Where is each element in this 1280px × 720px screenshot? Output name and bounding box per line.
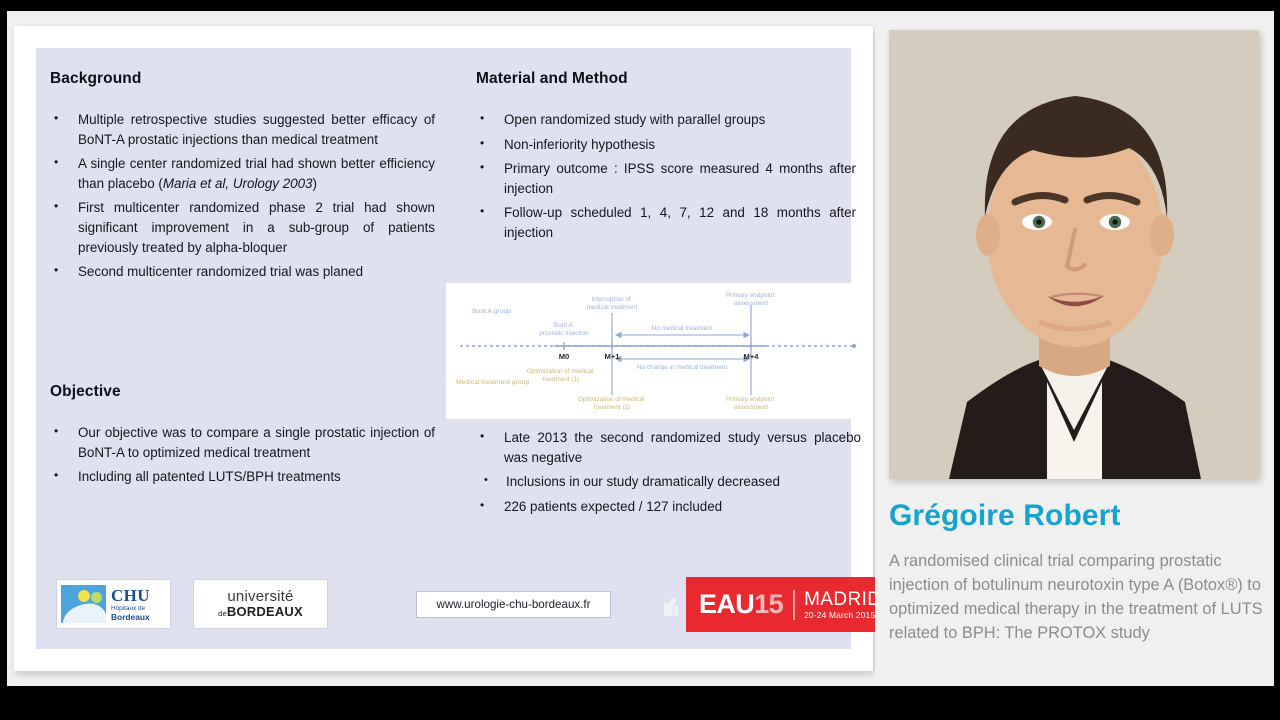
list-item: Multiple retrospective studies suggested… [50,110,435,149]
svg-text:Bont A group: Bont A group [472,308,511,315]
background-section-title: Background [50,70,435,88]
ub-logo-prefix: de [218,609,227,618]
ub-logo-city: BORDEAUX [227,604,303,619]
eau-logo-divider [793,590,795,620]
svg-text:Interruption of: Interruption of medical treatment [587,296,638,311]
chu-logo-name: CHU [111,587,150,604]
ub-logo-line1: université [227,589,293,605]
svg-text:Optimization of medical: Optimization of medical treatment (2) [578,396,646,411]
study-timeline-diagram: M0 M+1 M+4 Bont A group Medical treatmen… [446,283,869,419]
watermark-logo-icon [661,597,681,619]
list-item: Our objective was to compare a single pr… [50,423,435,462]
svg-text:Optimization of medical: Optimization of medical treatment (1) [527,368,595,383]
list-item: Second multicenter randomized trial was … [50,262,435,282]
eau-logo-dates: 20-24 March 2015 [804,611,881,620]
svg-text:Primary endpoint: Primary endpoint assessment [726,396,776,411]
results-bullet-list-2: 226 patients expected / 127 included [476,497,861,517]
speaker-photo [889,30,1259,479]
website-url-text: www.urologie-chu-bordeaux.fr [436,598,590,611]
universite-bordeaux-logo: université deBORDEAUX [193,579,328,629]
letterbox-left-bar [0,0,7,720]
presentation-viewer: Background Multiple retrospective studie… [0,0,1280,720]
slide-footer: CHU Hôpitaux de Bordeaux université deBO… [50,579,850,639]
background-bullet-list: Multiple retrospective studies suggested… [50,110,435,282]
chu-emblem-icon [61,585,106,623]
chu-bordeaux-logo: CHU Hôpitaux de Bordeaux [56,579,171,629]
results-sub-bullet-list: Inclusions in our study dramatically dec… [476,472,861,492]
svg-text:Medical treatment group: Medical treatment group [456,379,530,386]
eau-logo-city: MADRID [804,590,881,610]
list-item: Follow-up scheduled 1, 4, 7, 12 and 18 m… [476,203,856,242]
list-item: Non-inferiority hypothesis [476,135,856,155]
svg-text:M+1: M+1 [605,352,621,361]
objective-bullet-list: Our objective was to compare a single pr… [50,423,435,487]
viewer-stage: Background Multiple retrospective studie… [7,11,1274,686]
objective-section-title: Objective [50,383,435,401]
results-bullet-list: Late 2013 the second randomized study ve… [476,428,861,467]
chu-logo-line3: Bordeaux [111,613,150,621]
slide-content-panel: Background Multiple retrospective studie… [36,48,851,649]
list-item: Open randomized study with parallel grou… [476,110,856,130]
slide-column-right: Material and Method Open randomized stud… [476,70,856,248]
letterbox-bottom-bar [0,686,1280,720]
ub-logo-line2: deBORDEAUX [218,604,303,619]
eau-logo-text: EAU [699,589,754,619]
speaker-pane: Grégoire Robert A randomised clinical tr… [875,11,1274,686]
talk-title: A randomised clinical trial comparing pr… [889,549,1263,645]
website-url-box[interactable]: www.urologie-chu-bordeaux.fr [416,591,611,618]
list-item: A single center randomized trial had sho… [50,154,435,193]
sun-icon [78,590,90,602]
svg-text:M0: M0 [559,352,570,361]
slide-card[interactable]: Background Multiple retrospective studie… [14,26,873,671]
eau-logo-year: 15 [754,589,783,619]
letterbox-right-bar [1274,0,1280,720]
list-item: Late 2013 the second randomized study ve… [476,428,861,467]
slide-column-left: Background Multiple retrospective studie… [50,70,435,287]
svg-text:M+4: M+4 [744,352,760,361]
eau15-madrid-logo: EAU15 MADRID 20-24 March 2015 [686,577,887,632]
list-item: Including all patented LUTS/BPH treatmen… [50,467,435,487]
letterbox-top-bar [0,0,1280,11]
list-item: Inclusions in our study dramatically dec… [476,472,861,492]
list-item: 226 patients expected / 127 included [476,497,861,517]
material-method-bullet-list: Open randomized study with parallel grou… [476,110,856,243]
svg-text:No medical treatment: No medical treatment [652,325,713,332]
list-item: Primary outcome : IPSS score measured 4 … [476,159,856,198]
results-notes-section: Late 2013 the second randomized study ve… [476,428,861,521]
svg-text:Bont A prostatic: Bont A prostatic injection [539,322,589,337]
svg-text:Primary endpoint: Primary endpoint assessment [726,292,776,307]
objective-section: Objective Our objective was to compare a… [50,383,435,492]
svg-text:No change in medical treatment: No change in medical treatment [637,364,727,371]
speaker-name: Grégoire Robert [889,499,1121,533]
material-method-section-title: Material and Method [476,70,856,88]
moon-icon [91,592,102,603]
list-item: First multicenter randomized phase 2 tri… [50,198,435,257]
hand-icon [61,602,106,623]
